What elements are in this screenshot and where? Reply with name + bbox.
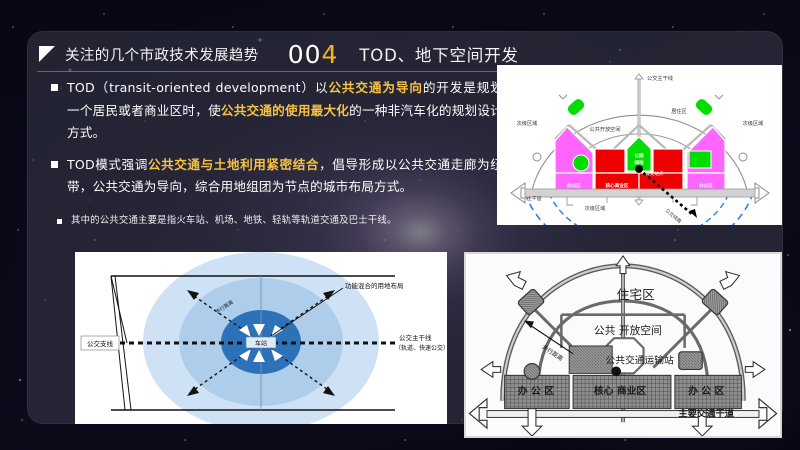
- label-bus-main-line: 公交主干线: [399, 333, 432, 342]
- sub-bullet-text: 其中的公共交通主要是指火车站、机场、地铁、轻轨等轨道交通及巴士干线。: [71, 213, 397, 229]
- highlight-segment: 公共交通的使用最大化: [221, 103, 349, 118]
- section-number-prefix: 00: [288, 40, 322, 69]
- svg-text:公园: 公园: [634, 152, 644, 159]
- label-bus-main-line: 公交主干线: [647, 74, 673, 82]
- tod-concentric-circle-diagram: 车站 步行距离 公交支线 公交主干线 （轨道、快速公交） 功能混合的用地布局: [75, 252, 447, 424]
- label-secondary-area-bottom: 次级区域: [585, 204, 606, 212]
- bullet-list: TOD（transit-oriented development）以公共交通为导…: [43, 77, 503, 238]
- label-office-right: 办公区: [699, 182, 713, 189]
- label-office-right: 办 公 区: [688, 384, 724, 397]
- bullet-text-2: TOD模式强调公共交通与土地利用紧密结合，倡导形成以公共交通走廊为纽带，公共交通…: [67, 154, 503, 199]
- label-core-commercial: 核心商业区: [606, 182, 629, 189]
- highlight-segment: 公共交通为导向: [328, 80, 422, 95]
- tod-concentric-svg: 车站 步行距离 公交支线 公交主干线 （轨道、快速公交） 功能混合的用地布局: [75, 252, 447, 424]
- label-transit-terminal: 公共交通运输站: [605, 354, 674, 367]
- text-segment: TOD（transit-oriented development）以: [67, 80, 328, 95]
- tod-district-layout-svg: 公交主干线 居住区 公共开放空间 次级区域 次级区域 次级区域 办公区 办公区 …: [497, 65, 782, 225]
- label-main-road: 主干道: [527, 195, 542, 202]
- flag-triangle-icon: [37, 44, 57, 64]
- label-public-open-space: 公共 开放空间: [594, 324, 662, 337]
- label-bus-main-line-sub: （轨道、快速公交）: [395, 344, 447, 352]
- bullet-square-icon: [57, 219, 62, 224]
- label-secondary-area-right: 次级区域: [743, 119, 764, 127]
- label-main-traffic-road: 主要交通干道: [678, 407, 734, 419]
- label-office-left: 办公区: [567, 182, 581, 189]
- list-item-secondary: 其中的公共交通主要是指火车站、机场、地铁、轻轨等轨道交通及巴士干线。: [43, 213, 503, 229]
- section-number-accent: 4: [322, 40, 339, 69]
- highlight-segment: 公共交通与土地利用紧密结合: [148, 157, 319, 172]
- tod-sketch-plan-svg: 步行距离 住宅区 公共 开放空间 公共交通运输站 办 公 区 核心 商业区 办 …: [466, 254, 780, 436]
- section-number: 004: [288, 40, 339, 69]
- bullet-square-icon: [51, 161, 58, 168]
- label-secondary-area-left: 次级区域: [517, 119, 538, 127]
- list-item: TOD模式强调公共交通与土地利用紧密结合，倡导形成以公共交通走廊为纽带，公共交通…: [43, 154, 503, 199]
- svg-text:绿地: 绿地: [634, 159, 644, 166]
- label-office-left: 办 公 区: [518, 384, 554, 397]
- presentation-slide: 关注的几个市政技术发展趋势 004 TOD、地下空间开发 TOD（transit…: [0, 0, 800, 450]
- label-residential: 住宅区: [617, 287, 655, 302]
- bullet-square-icon: [51, 84, 58, 91]
- content-panel: 关注的几个市政技术发展趋势 004 TOD、地下空间开发 TOD（transit…: [27, 31, 783, 424]
- label-public-open-space: 公共开放空间: [589, 125, 620, 133]
- list-item: TOD（transit-oriented development）以公共交通为导…: [43, 77, 503, 145]
- label-station: 车站: [255, 340, 267, 348]
- bullet-text-1: TOD（transit-oriented development）以公共交通为导…: [67, 77, 503, 145]
- header-subtitle: 关注的几个市政技术发展趋势: [65, 44, 259, 65]
- tod-district-layout-diagram: 公交主干线 居住区 公共开放空间 次级区域 次级区域 次级区域 办公区 办公区 …: [497, 65, 782, 225]
- label-core-commercial: 核心 商业区: [594, 384, 646, 397]
- page-title: TOD、地下空间开发: [359, 42, 518, 66]
- label-mixed-land-use: 功能混合的用地布局: [345, 281, 404, 290]
- text-segment: TOD模式强调: [67, 157, 148, 172]
- label-residential: 居住区: [671, 107, 687, 115]
- label-transit-stop: 公交站点: [645, 170, 664, 177]
- tod-sketch-plan-diagram: 步行距离 住宅区 公共 开放空间 公共交通运输站 办 公 区 核心 商业区 办 …: [464, 252, 782, 438]
- label-bus-branch-line: 公交支线: [87, 339, 114, 348]
